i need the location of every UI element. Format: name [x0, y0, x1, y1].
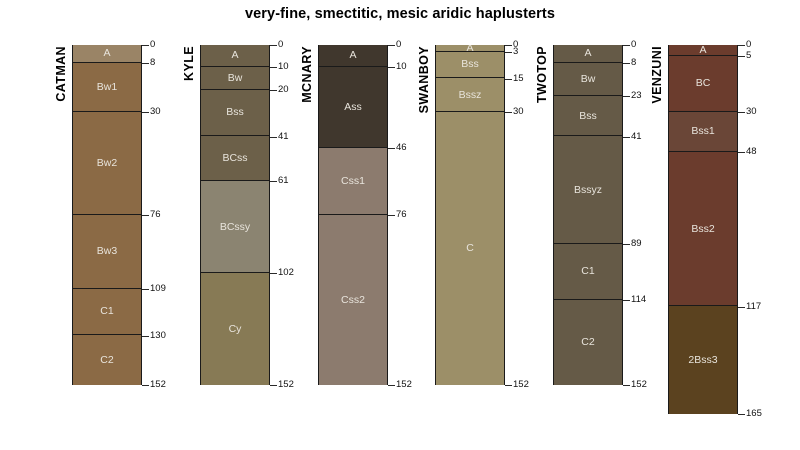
depth-tick-mark: [505, 52, 512, 53]
depth-tick-mark: [388, 215, 395, 216]
depth-tick-label: 30: [746, 107, 757, 117]
depth-tick-label: 46: [396, 143, 407, 153]
depth-tick-label: 10: [396, 62, 407, 72]
depth-tick-label: 10: [278, 62, 289, 72]
depth-tick-mark: [388, 67, 395, 68]
soil-horizon: C: [436, 112, 504, 385]
depth-tick-label: 48: [746, 147, 757, 157]
depth-tick-mark: [142, 385, 149, 386]
soil-horizon: A: [669, 45, 737, 56]
depth-tick-label: 152: [278, 380, 294, 390]
profile-name-label: MCNARY: [301, 46, 314, 103]
profile-column: ABCBss1Bss22Bss3: [668, 45, 738, 414]
soil-horizon: A: [319, 45, 387, 67]
depth-tick-label: 15: [513, 74, 524, 84]
depth-tick-mark: [505, 385, 512, 386]
horizon-label: Bss2: [669, 223, 737, 235]
depth-tick-mark: [738, 112, 745, 113]
soil-horizon: 2Bss3: [669, 306, 737, 413]
depth-tick-label: 76: [150, 210, 161, 220]
depth-tick-label: 89: [631, 239, 642, 249]
horizon-label: Bw2: [73, 157, 141, 169]
horizon-label: Css1: [319, 175, 387, 187]
depth-tick-mark: [623, 137, 630, 138]
profile-name-label: VENZUNI: [651, 46, 664, 104]
depth-tick-mark: [505, 79, 512, 80]
horizon-label: C: [436, 242, 504, 254]
horizon-label: 2Bss3: [669, 354, 737, 366]
depth-tick-mark: [270, 273, 277, 274]
soil-horizon: BC: [669, 56, 737, 112]
soil-horizon: Bw3: [73, 215, 141, 289]
page-title: very-fine, smectitic, mesic aridic haplu…: [0, 6, 800, 22]
depth-tick-label: 117: [746, 302, 761, 312]
depth-tick-mark: [142, 215, 149, 216]
horizon-label: BC: [669, 77, 737, 89]
depth-tick-mark: [623, 244, 630, 245]
depth-tick-mark: [623, 300, 630, 301]
depth-tick-label: 61: [278, 176, 289, 186]
depth-tick-mark: [270, 90, 277, 91]
soil-horizon: Bss2: [669, 152, 737, 306]
soil-horizon: Bss1: [669, 112, 737, 152]
depth-tick-label: 0: [150, 40, 155, 50]
depth-tick-mark: [270, 181, 277, 182]
horizon-label: Bw1: [73, 81, 141, 93]
depth-tick-mark: [738, 307, 745, 308]
profile-name-label: KYLE: [183, 46, 196, 81]
horizon-label: A: [669, 45, 737, 56]
depth-tick-mark: [505, 45, 512, 46]
soil-horizon: A: [201, 45, 269, 67]
soil-horizon: Bss: [554, 96, 622, 136]
depth-tick-label: 30: [150, 107, 161, 117]
soil-horizon: C2: [73, 335, 141, 384]
horizon-label: Bss: [201, 106, 269, 118]
soil-horizon: Bw1: [73, 63, 141, 112]
horizon-label: Ass: [319, 101, 387, 113]
depth-tick-mark: [142, 289, 149, 290]
soil-horizon: BCssy: [201, 181, 269, 273]
depth-tick-mark: [623, 96, 630, 97]
soil-horizon: Cy: [201, 273, 269, 385]
depth-tick-mark: [270, 45, 277, 46]
depth-tick-label: 8: [631, 58, 636, 68]
depth-tick-label: 114: [631, 295, 646, 305]
depth-tick-label: 30: [513, 107, 524, 117]
horizon-label: A: [436, 45, 504, 52]
depth-tick-mark: [738, 152, 745, 153]
soil-horizon: A: [554, 45, 622, 63]
depth-tick-label: 23: [631, 91, 642, 101]
horizon-label: C2: [73, 354, 141, 366]
soil-horizon: C2: [554, 300, 622, 385]
depth-tick-mark: [623, 385, 630, 386]
horizon-label: Bss: [554, 110, 622, 122]
depth-tick-mark: [505, 112, 512, 113]
depth-tick-mark: [388, 385, 395, 386]
soil-horizon: C1: [554, 244, 622, 300]
soil-horizon: Bss: [436, 52, 504, 79]
horizon-label: A: [554, 47, 622, 59]
depth-tick-label: 20: [278, 85, 289, 95]
soil-horizon: Bssyz: [554, 136, 622, 243]
soil-horizon: C1: [73, 289, 141, 336]
depth-tick-label: 152: [396, 380, 412, 390]
depth-tick-mark: [142, 336, 149, 337]
horizon-label: Bssz: [436, 89, 504, 101]
depth-tick-label: 3: [513, 47, 518, 57]
depth-tick-label: 8: [150, 58, 155, 68]
profile-name-label: TWOTOP: [536, 46, 549, 103]
depth-tick-label: 152: [513, 380, 529, 390]
soil-horizon: BCss: [201, 136, 269, 181]
horizon-label: Css2: [319, 294, 387, 306]
horizon-label: BCssy: [201, 221, 269, 233]
depth-tick-mark: [270, 67, 277, 68]
horizon-label: Bw: [201, 72, 269, 84]
depth-tick-mark: [388, 148, 395, 149]
soil-horizon: Bw: [201, 67, 269, 89]
depth-tick-label: 152: [631, 380, 647, 390]
horizon-label: Bssyz: [554, 184, 622, 196]
horizon-label: C1: [73, 305, 141, 317]
horizon-label: Bw3: [73, 245, 141, 257]
depth-tick-label: 0: [746, 40, 751, 50]
depth-tick-mark: [142, 112, 149, 113]
soil-horizon: Bw2: [73, 112, 141, 215]
depth-tick-label: 41: [631, 132, 642, 142]
depth-tick-mark: [270, 385, 277, 386]
profile-name-label: SWANBOY: [418, 46, 431, 113]
profile-name-label: CATMAN: [55, 46, 68, 102]
soil-horizon: Bss: [201, 90, 269, 137]
depth-tick-label: 0: [278, 40, 283, 50]
depth-tick-label: 76: [396, 210, 407, 220]
soil-horizon: Bssz: [436, 78, 504, 112]
depth-tick-label: 0: [631, 40, 636, 50]
horizon-label: BCss: [201, 152, 269, 164]
depth-tick-mark: [270, 137, 277, 138]
depth-tick-label: 5: [746, 51, 751, 61]
depth-tick-mark: [388, 45, 395, 46]
soil-horizon: A: [73, 45, 141, 63]
horizon-label: Bw: [554, 73, 622, 85]
profile-column: ABwBssBssyzC1C2: [553, 45, 623, 385]
depth-tick-label: 102: [278, 268, 294, 278]
horizon-label: Bss1: [669, 125, 737, 137]
soil-horizon: Css1: [319, 148, 387, 215]
depth-tick-mark: [623, 63, 630, 64]
soil-horizon: Ass: [319, 67, 387, 147]
soil-profile-chart: very-fine, smectitic, mesic aridic haplu…: [0, 0, 800, 450]
depth-tick-label: 165: [746, 409, 762, 419]
horizon-label: A: [319, 49, 387, 61]
soil-horizon: Bw: [554, 63, 622, 97]
profile-column: ABw1Bw2Bw3C1C2: [72, 45, 142, 385]
depth-tick-mark: [142, 63, 149, 64]
horizon-label: A: [201, 49, 269, 61]
horizon-label: Cy: [201, 323, 269, 335]
profile-column: ABwBssBCssBCssyCy: [200, 45, 270, 385]
depth-tick-mark: [142, 45, 149, 46]
depth-tick-label: 152: [150, 380, 166, 390]
depth-tick-label: 130: [150, 331, 166, 341]
profile-column: ABssBsszC: [435, 45, 505, 385]
depth-tick-mark: [738, 56, 745, 57]
horizon-label: C1: [554, 265, 622, 277]
horizon-label: C2: [554, 336, 622, 348]
depth-tick-label: 109: [150, 284, 166, 294]
soil-horizon: A: [436, 45, 504, 52]
depth-tick-label: 0: [396, 40, 401, 50]
profile-column: AAssCss1Css2: [318, 45, 388, 385]
horizon-label: A: [73, 47, 141, 59]
depth-tick-mark: [738, 414, 745, 415]
horizon-label: Bss: [436, 58, 504, 70]
depth-tick-mark: [623, 45, 630, 46]
soil-horizon: Css2: [319, 215, 387, 385]
depth-tick-label: 41: [278, 132, 289, 142]
depth-tick-mark: [738, 45, 745, 46]
